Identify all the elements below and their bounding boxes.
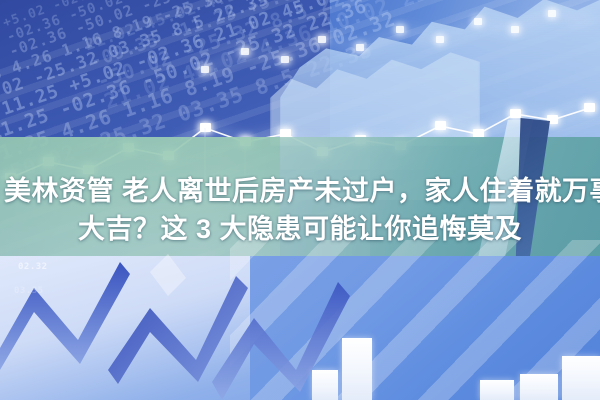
headline-block: 美林资管 老人离世后房产未过户，家人住着就万事 大吉？这 3 大隐患可能让你追悔…	[0, 160, 600, 260]
bar-chart-bar	[562, 356, 600, 400]
headline-line-2: 大吉？这 3 大隐患可能让你追悔莫及	[0, 210, 600, 248]
low-number: 02.32	[18, 262, 48, 272]
promo-banner: -09.35 -11.25 +5.02 -02.36 21.02 45.02 -…	[0, 0, 600, 400]
zigzag-arrow-graphic	[0, 252, 360, 400]
low-number: 03.35	[14, 286, 44, 296]
headline-line-1: 美林资管 老人离世后房产未过户，家人住着就万事	[0, 172, 600, 210]
bar-chart-bar	[520, 374, 558, 400]
bar-chart-bar	[312, 370, 338, 400]
bar-chart-bar	[342, 338, 372, 400]
bar-chart-bar	[480, 380, 514, 400]
